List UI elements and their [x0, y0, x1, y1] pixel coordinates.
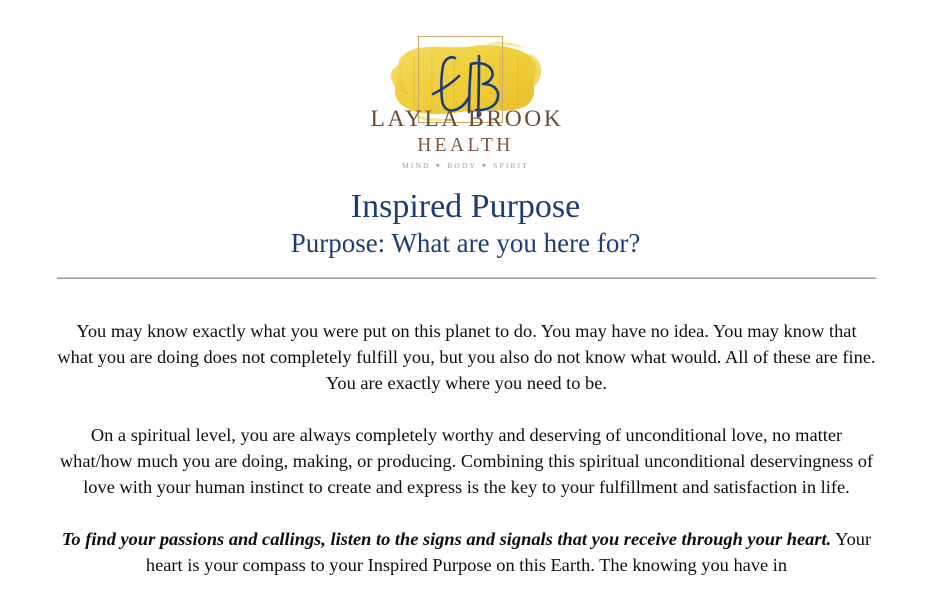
brand-tagline: MIND ✦ BODY ✦ SPIRIT — [371, 162, 561, 170]
brand-logo: LAYLA BROOK HEALTH MIND ✦ BODY ✦ SPIRIT — [0, 36, 931, 156]
page-title: Inspired Purpose — [0, 188, 931, 225]
paragraph-1: You may know exactly what you were put o… — [57, 318, 876, 396]
brand-name: LAYLA BROOK — [371, 108, 561, 132]
body-content: You may know exactly what you were put o… — [57, 318, 876, 578]
page-subtitle: Purpose: What are you here for? — [0, 229, 931, 259]
logo-mark: LAYLA BROOK HEALTH MIND ✦ BODY ✦ SPIRIT — [371, 36, 561, 156]
paragraph-2-text: On a spiritual level, you are always com… — [60, 425, 873, 497]
brand-subname: HEALTH — [371, 136, 561, 156]
horizontal-divider — [57, 277, 876, 279]
paragraph-1-text: You may know exactly what you were put o… — [57, 321, 875, 393]
paragraph-3: To find your passions and callings, list… — [57, 526, 876, 578]
paragraph-2: On a spiritual level, you are always com… — [57, 422, 876, 500]
document-page: LAYLA BROOK HEALTH MIND ✦ BODY ✦ SPIRIT … — [0, 0, 931, 604]
paragraph-3-lead: To find your passions and callings, list… — [62, 529, 831, 549]
